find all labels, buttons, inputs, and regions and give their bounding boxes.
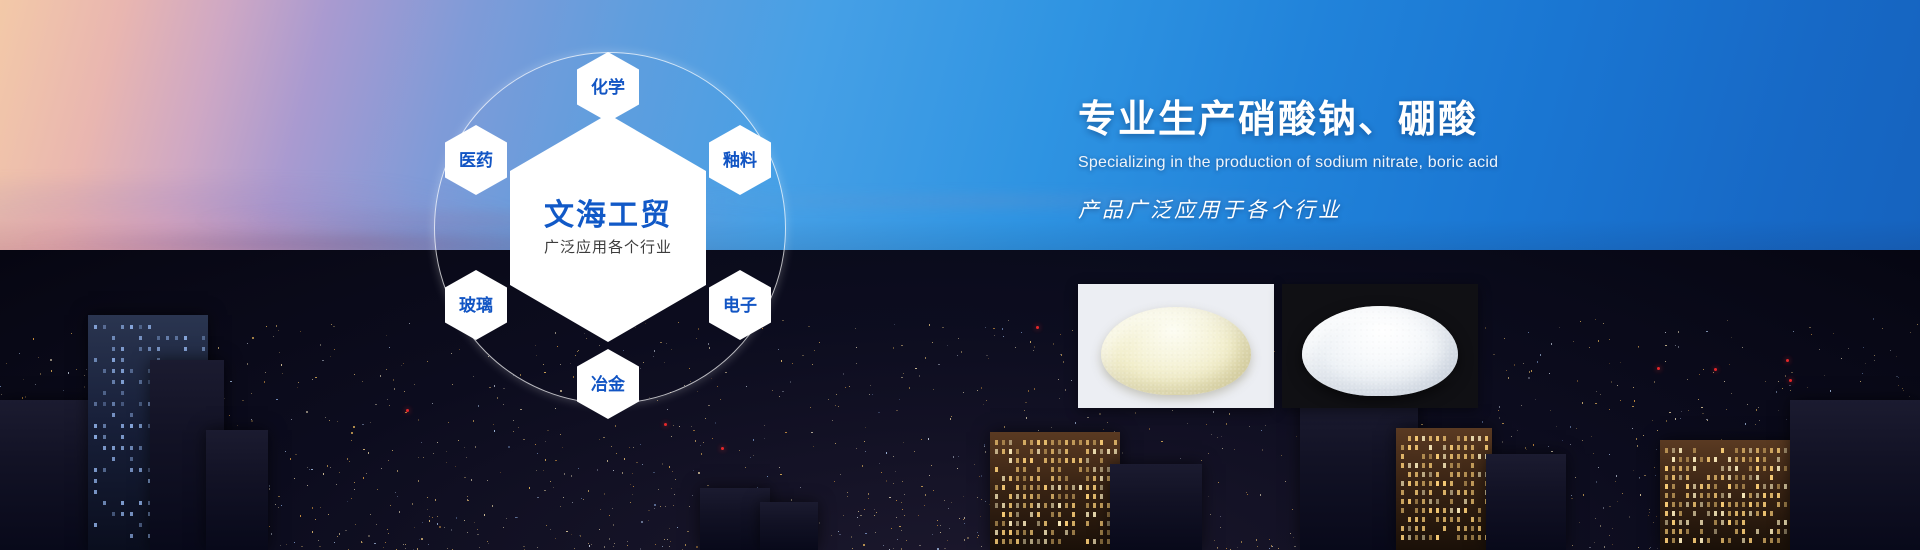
building-silhouette — [760, 502, 818, 550]
brand-name: 文海工贸 — [544, 201, 672, 231]
building-silhouette — [1486, 454, 1566, 550]
product-photo-group — [1078, 284, 1478, 408]
building-silhouette — [1660, 440, 1810, 550]
powder-grain-texture — [1101, 307, 1251, 395]
product-photo-sodium-nitrate[interactable] — [1078, 284, 1274, 408]
hex-label-medicine: 医药 — [459, 152, 493, 169]
subtitle-english: Specializing in the production of sodium… — [1078, 153, 1778, 172]
building-silhouette — [206, 430, 268, 550]
building-silhouette — [990, 432, 1120, 550]
hex-label-glass: 玻璃 — [459, 297, 493, 314]
headline: 专业生产硝酸钠、硼酸 — [1078, 100, 1778, 142]
subtitle-chinese: 产品广泛应用于各个行业 — [1078, 198, 1778, 223]
building-silhouette — [1110, 464, 1202, 550]
banner-copy-block: 专业生产硝酸钠、硼酸 Specializing in the productio… — [1078, 100, 1778, 223]
industry-hex-diagram: 化学 釉料 电子 冶金 玻璃 医药 文海工贸 广泛应用各个行业 — [398, 8, 818, 468]
product-photo-boric-acid[interactable] — [1282, 284, 1478, 408]
hex-label-glaze: 釉料 — [723, 152, 757, 169]
building-silhouette — [1396, 428, 1492, 550]
hex-label-electronics: 电子 — [723, 297, 757, 314]
building-silhouette — [0, 400, 96, 550]
brand-tagline: 广泛应用各个行业 — [544, 240, 672, 255]
city-lights — [0, 290, 1920, 550]
powder-pile-yellow — [1101, 307, 1251, 395]
hex-label-chemical: 化学 — [591, 79, 625, 96]
building-silhouette — [1790, 400, 1920, 550]
hero-banner: 化学 釉料 电子 冶金 玻璃 医药 文海工贸 广泛应用各个行业 专业生产硝酸钠、… — [0, 0, 1920, 550]
powder-grain-texture — [1302, 306, 1458, 396]
powder-pile-white — [1302, 306, 1458, 396]
hex-label-metallurgy: 冶金 — [591, 376, 625, 393]
